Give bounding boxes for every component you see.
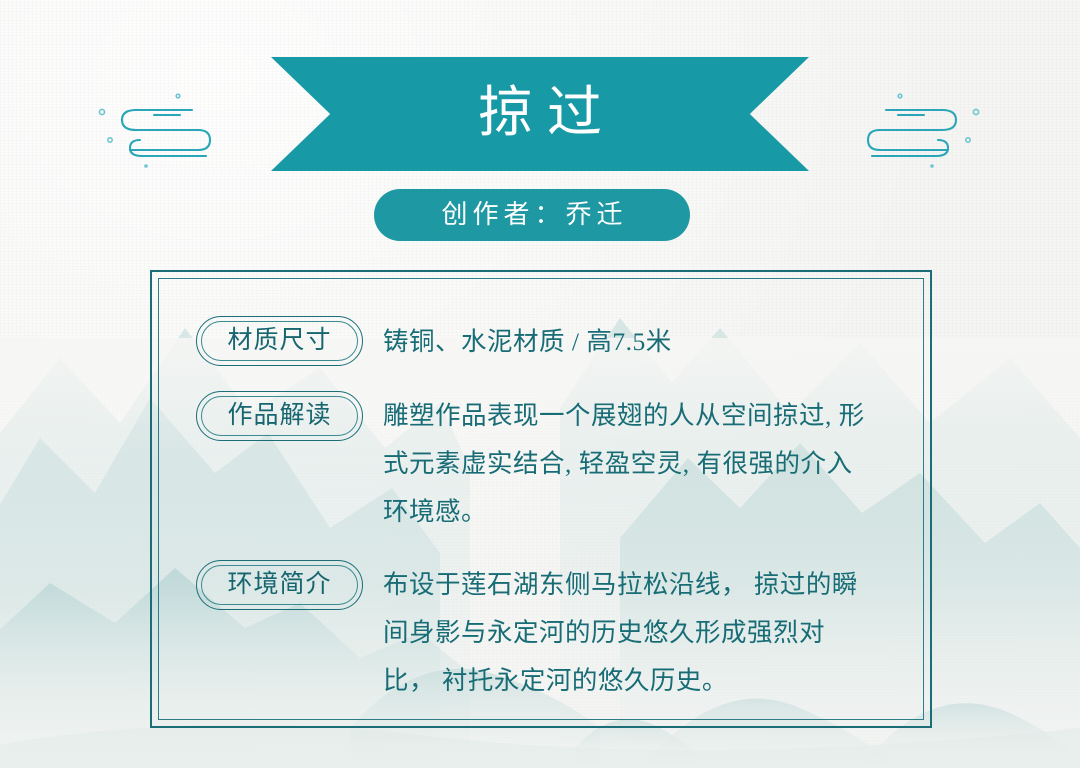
poster-canvas: 掠过 创作者：乔迁 材质尺寸 铸铜、水泥材质 / 高7.5米 作品解读 雕塑作品… bbox=[0, 0, 1080, 768]
info-row-label-pill: 材质尺寸 bbox=[196, 316, 363, 366]
info-row: 材质尺寸 铸铜、水泥材质 / 高7.5米 bbox=[196, 316, 896, 367]
info-row-value: 雕塑作品表现一个展翅的人从空间掠过, 形式元素虚实结合, 轻盈空灵, 有很强的介… bbox=[383, 391, 865, 536]
info-row-label-pill: 作品解读 bbox=[196, 391, 363, 441]
info-row-value: 铸铜、水泥材质 / 高7.5米 bbox=[383, 316, 865, 367]
info-row: 环境简介 布设于莲石湖东侧马拉松沿线， 掠过的瞬间身影与永定河的历史悠久形成强烈… bbox=[196, 560, 896, 705]
page-title: 掠过 bbox=[464, 85, 616, 144]
cloud-motif-icon bbox=[862, 82, 998, 175]
info-rows: 材质尺寸 铸铜、水泥材质 / 高7.5米 作品解读 雕塑作品表现一个展翅的人从空… bbox=[196, 316, 896, 705]
info-row-label: 环境简介 bbox=[227, 572, 331, 599]
info-row-value: 布设于莲石湖东侧马拉松沿线， 掠过的瞬间身影与永定河的历史悠久形成强烈对比， 衬… bbox=[383, 560, 865, 705]
info-row-label: 作品解读 bbox=[227, 403, 331, 430]
info-row-label-pill: 环境简介 bbox=[196, 560, 363, 610]
info-row-label: 材质尺寸 bbox=[227, 328, 331, 355]
cloud-motif-icon bbox=[80, 82, 216, 175]
author-badge: 创作者：乔迁 bbox=[374, 189, 690, 241]
title-banner: 掠过 bbox=[271, 57, 809, 171]
info-row: 作品解读 雕塑作品表现一个展翅的人从空间掠过, 形式元素虚实结合, 轻盈空灵, … bbox=[196, 391, 896, 536]
author-label: 创作者：乔迁 bbox=[436, 201, 627, 229]
